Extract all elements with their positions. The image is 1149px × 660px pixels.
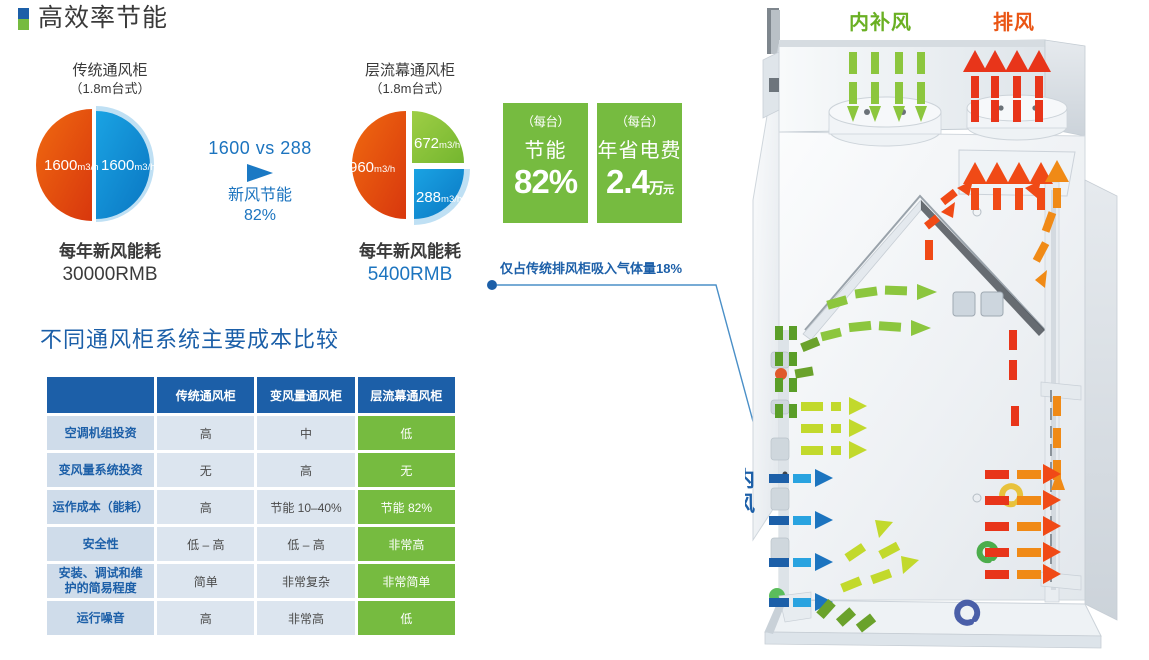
table-row: 安装、调试和维护的简易程度 简单 非常复杂 非常简单 <box>47 564 455 598</box>
comparison-summary: 1600 vs 288 新风节能 82% <box>196 138 324 226</box>
badge-energy-saving-value: 82% <box>514 165 577 198</box>
table-cell: 高 <box>257 453 354 487</box>
chart-laminar-caption: 层流幕通风柜 （1.8m台式） <box>330 62 490 97</box>
table-cell-highlight: 节能 82% <box>358 490 455 524</box>
pie-traditional: 1600m3/h 1600m3/h <box>30 103 190 223</box>
table-row: 运行噪音 高 非常高 低 <box>47 601 455 635</box>
table-title: 不同通风柜系统主要成本比较 <box>40 322 339 354</box>
label-exhaust-air: 排风 <box>993 6 1035 35</box>
table-cell-highlight: 非常简单 <box>358 564 455 598</box>
badge-cost-saving: （每台） 年省电费 2.4万元 <box>597 103 682 223</box>
table-rowhead: 运行噪音 <box>47 601 154 635</box>
table-row: 变风量系统投资 无 高 无 <box>47 453 455 487</box>
badge-energy-saving: （每台） 节能 82% <box>503 103 588 223</box>
table-cell-highlight: 非常高 <box>358 527 455 561</box>
table-cell: 低 – 高 <box>157 527 254 561</box>
pie-label-traditional-supply: 1600m3/h <box>101 157 156 175</box>
table-cell: 节能 10–40% <box>257 490 354 524</box>
pie-label-laminar-fresh: 288m3/h <box>416 189 462 207</box>
table-row: 安全性 低 – 高 低 – 高 非常高 <box>47 527 455 561</box>
table-cell: 高 <box>157 601 254 635</box>
callout-leader-line <box>486 275 756 490</box>
table-cell: 简单 <box>157 564 254 598</box>
table-cell: 中 <box>257 416 354 450</box>
table-header-laminar: 层流幕通风柜 <box>358 377 455 413</box>
chart-laminar-footer: 每年新风能耗 5400RMB <box>330 241 490 288</box>
chart-traditional-caption: 传统通风柜 （1.8m台式） <box>30 62 190 97</box>
chart-traditional-footer: 每年新风能耗 30000RMB <box>30 241 190 288</box>
table-row: 空调机组投资 高 中 低 <box>47 416 455 450</box>
table-cell: 高 <box>157 416 254 450</box>
title-marker-icon <box>18 8 29 30</box>
table-rowhead: 空调机组投资 <box>47 416 154 450</box>
supply-air-arrows-mid <box>801 397 867 459</box>
pie-laminar: 960m3/h 672m3/h 288m3/h <box>330 103 490 223</box>
cost-comparison-table: 传统通风柜 变风量通风柜 层流幕通风柜 空调机组投资 高 中 低 变风量系统投资… <box>44 374 458 638</box>
label-room-fresh-air: 室内 新风 <box>745 468 756 518</box>
table-cell-highlight: 无 <box>358 453 455 487</box>
table-cell: 高 <box>157 490 254 524</box>
table-cell: 低 – 高 <box>257 527 354 561</box>
chart-traditional: 传统通风柜 （1.8m台式） <box>30 62 190 288</box>
table-rowhead: 安全性 <box>47 527 154 561</box>
comparison-ratio: 1600 vs 288 <box>196 138 324 159</box>
table-header-traditional: 传统通风柜 <box>157 377 254 413</box>
highlight-badges: （每台） 节能 82% （每台） 年省电费 2.4万元 <box>503 103 682 223</box>
table-cell: 非常复杂 <box>257 564 354 598</box>
comparison-saving-value: 82% <box>196 206 324 226</box>
table-cell-highlight: 低 <box>358 416 455 450</box>
fume-hood-illustration: 内补风 排风 室内 新风 <box>745 0 1149 660</box>
pie-label-traditional-exhaust: 1600m3/h <box>44 157 99 175</box>
table-header-vav: 变风量通风柜 <box>257 377 354 413</box>
table-cell: 无 <box>157 453 254 487</box>
table-cell-highlight: 低 <box>358 601 455 635</box>
badge-cost-saving-value: 2.4万元 <box>606 165 673 198</box>
fume-hood-diagram-svg <box>745 0 1149 660</box>
table-row: 运作成本（能耗） 高 节能 10–40% 节能 82% <box>47 490 455 524</box>
page-title-text: 高效率节能 <box>38 6 168 31</box>
infographic-root: 高效率节能 传统通风柜 （1.8m台式） <box>0 0 1149 660</box>
right-arrow-icon <box>247 164 273 182</box>
table-rowhead: 变风量系统投资 <box>47 453 154 487</box>
table-cell: 非常高 <box>257 601 354 635</box>
comparison-saving-label: 新风节能 <box>196 186 324 206</box>
table-header-blank <box>47 377 154 413</box>
table-rowhead: 安装、调试和维护的简易程度 <box>47 564 154 598</box>
table-header-row: 传统通风柜 变风量通风柜 层流幕通风柜 <box>47 377 455 413</box>
chart-laminar: 层流幕通风柜 （1.8m台式） 960m3/h 672m3/h 288m3/h <box>330 62 490 288</box>
pie-label-laminar-exhaust: 960m3/h <box>349 159 395 177</box>
pie-label-laminar-supply: 672m3/h <box>414 135 460 153</box>
label-supply-air: 内补风 <box>849 6 912 35</box>
table-rowhead: 运作成本（能耗） <box>47 490 154 524</box>
page-title: 高效率节能 <box>18 6 168 31</box>
